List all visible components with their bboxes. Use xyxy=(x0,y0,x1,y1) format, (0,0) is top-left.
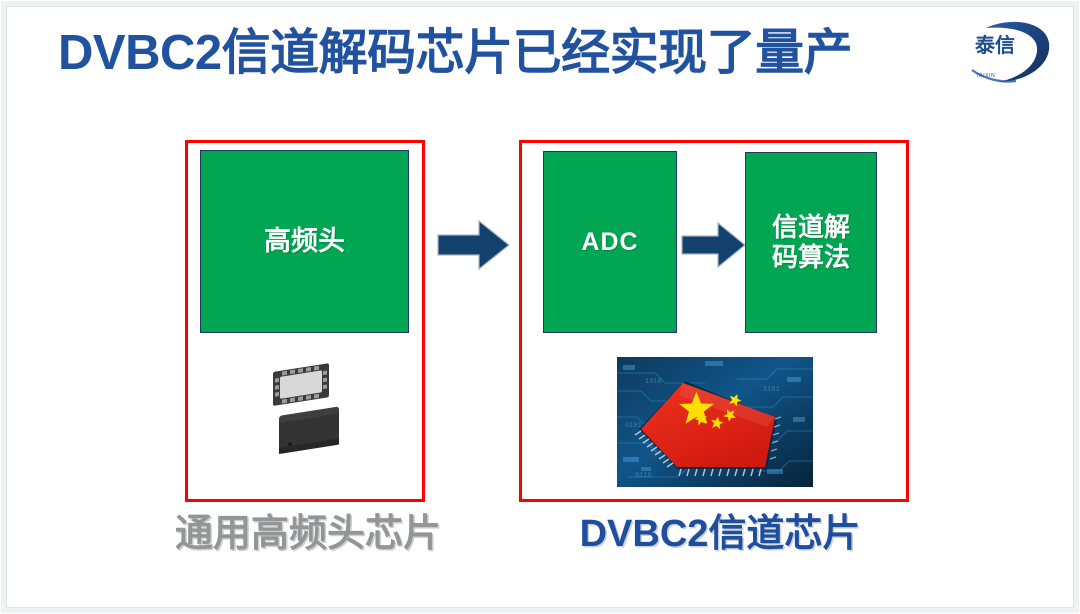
process-box-tuner-label: 高频头 xyxy=(264,226,345,256)
arrow-tuner-to-adc-icon xyxy=(437,218,511,272)
svg-text:1101: 1101 xyxy=(763,386,780,394)
logo-romanization: TAIXIN xyxy=(976,73,995,79)
china-flag-on-microchip-photo: 1010 0101 1101 0110 xyxy=(617,357,813,487)
svg-text:1010: 1010 xyxy=(645,378,662,386)
process-box-algo-label-line2: 码算法 xyxy=(772,243,850,272)
process-box-tuner: 高频头 xyxy=(200,150,409,333)
taixin-logo: 泰信 TAIXIN xyxy=(964,12,1056,90)
process-box-adc: ADC xyxy=(543,151,677,333)
logo-characters: 泰信 xyxy=(974,33,1015,57)
process-box-adc-label: ADC xyxy=(581,228,638,256)
process-box-algo-label-line1: 信道解 xyxy=(772,213,850,242)
caption-dvbc2-channel-chip: DVBC2信道芯片 xyxy=(520,508,920,560)
arrow-adc-to-algorithm-icon xyxy=(681,220,747,270)
page-title: DVBC2信道解码芯片已经实现了量产 xyxy=(58,22,948,84)
caption-general-tuner-chip: 通用高频头芯片 xyxy=(138,508,478,560)
svg-text:0110: 0110 xyxy=(635,472,652,480)
process-box-channel-decode-algorithm: 信道解 码算法 xyxy=(745,152,877,333)
qfn-chip-package-photo xyxy=(257,362,361,466)
slide-canvas: DVBC2信道解码芯片已经实现了量产 泰信 TAIXIN 高频头 xyxy=(0,0,1080,614)
